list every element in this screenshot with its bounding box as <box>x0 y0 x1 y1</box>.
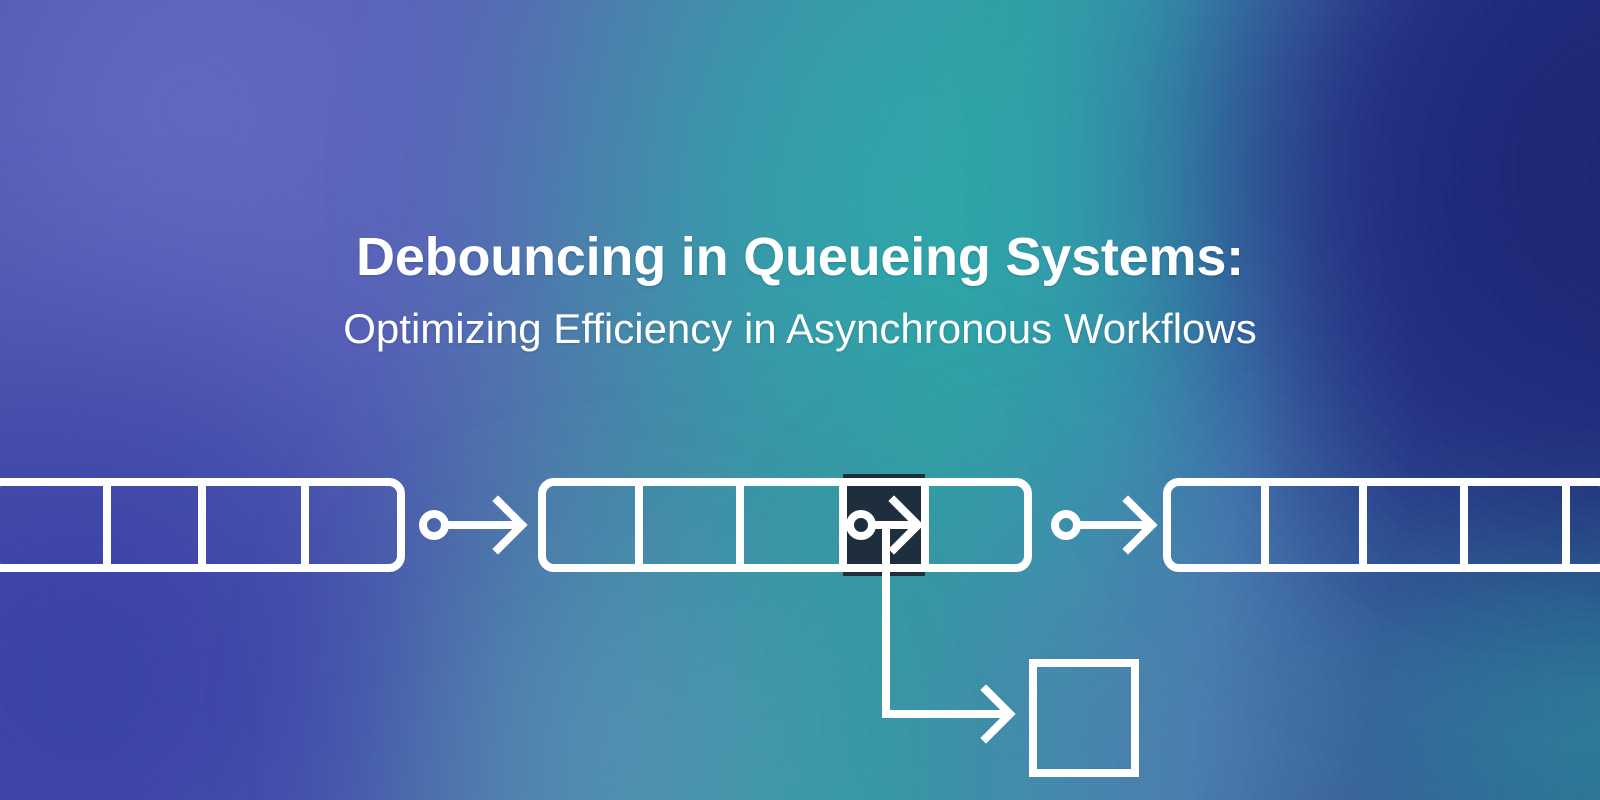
incoming-queue <box>0 478 401 572</box>
debounce-queue-outline <box>542 482 1028 568</box>
outgoing-queue <box>1167 478 1600 572</box>
dequeue-arrow-origin-dot <box>1055 514 1077 536</box>
hero-banner: Debouncing in Queueing Systems: Optimizi… <box>0 0 1600 800</box>
enqueue-arrow <box>423 501 522 549</box>
outgoing-queue-outline <box>1167 482 1600 568</box>
discard-box <box>1033 663 1135 773</box>
dequeue-arrow <box>1055 501 1152 549</box>
queue-diagram <box>0 0 1600 800</box>
enqueue-arrow-origin-dot <box>423 514 445 536</box>
debounce-queue <box>542 478 1028 572</box>
